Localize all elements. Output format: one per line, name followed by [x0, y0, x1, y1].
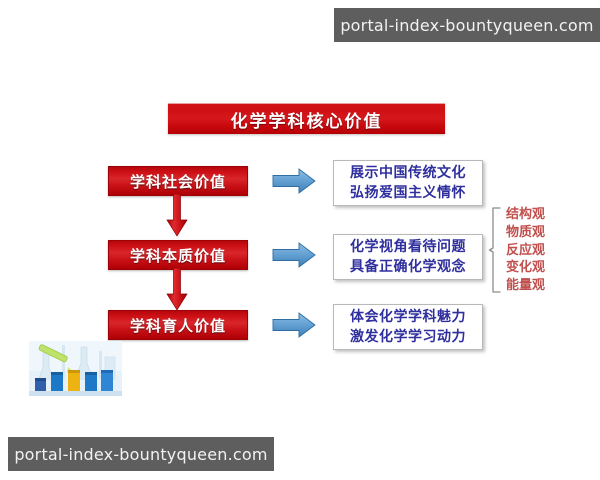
outcome-line: 具备正确化学观念 — [350, 257, 466, 277]
stage-box-social-value: 学科社会价值 — [108, 166, 248, 196]
concept-group: 结构观 物质观 反应观 变化观 能量观 — [488, 206, 580, 294]
right-arrow-icon — [272, 242, 316, 268]
outcome-line: 激发化学学习动力 — [350, 327, 466, 347]
concept-item: 结构观 — [506, 206, 580, 223]
stage-box-education-value: 学科育人价值 — [108, 310, 248, 340]
outcome-line: 展示中国传统文化 — [350, 163, 466, 183]
outcome-box-social-value: 展示中国传统文化 弘扬爱国主义情怀 — [333, 160, 483, 206]
watermark-bottom: portal-index-bountyqueen.com — [8, 437, 274, 471]
stage-label: 学科育人价值 — [130, 315, 226, 336]
diagram-title-banner: 化学学科核心价值 — [168, 103, 445, 134]
right-arrow-icon — [272, 168, 316, 194]
chemistry-lab-photo — [29, 341, 122, 396]
stage-box-essential-value: 学科本质价值 — [108, 240, 248, 270]
down-arrow-icon — [166, 268, 188, 312]
outcome-line: 体会化学学科魅力 — [350, 307, 466, 327]
stage-label: 学科本质价值 — [130, 245, 226, 266]
concept-item: 反应观 — [506, 242, 580, 259]
outcome-box-education-value: 体会化学学科魅力 激发化学学习动力 — [333, 304, 483, 350]
watermark-bottom-text: portal-index-bountyqueen.com — [14, 445, 267, 464]
watermark-top-text: portal-index-bountyqueen.com — [340, 16, 593, 35]
down-arrow-icon — [166, 194, 188, 238]
curly-bracket-icon — [488, 206, 502, 294]
watermark-top: portal-index-bountyqueen.com — [334, 8, 600, 42]
right-arrow-icon — [272, 312, 316, 338]
concept-item: 物质观 — [506, 224, 580, 241]
outcome-line: 弘扬爱国主义情怀 — [350, 183, 466, 203]
stage-label: 学科社会价值 — [130, 171, 226, 192]
concept-item: 变化观 — [506, 259, 580, 276]
concept-item: 能量观 — [506, 277, 580, 294]
diagram-title-text: 化学学科核心价值 — [231, 107, 383, 132]
outcome-box-essential-value: 化学视角看待问题 具备正确化学观念 — [333, 234, 483, 280]
outcome-line: 化学视角看待问题 — [350, 237, 466, 257]
concept-list: 结构观 物质观 反应观 变化观 能量观 — [502, 206, 580, 294]
